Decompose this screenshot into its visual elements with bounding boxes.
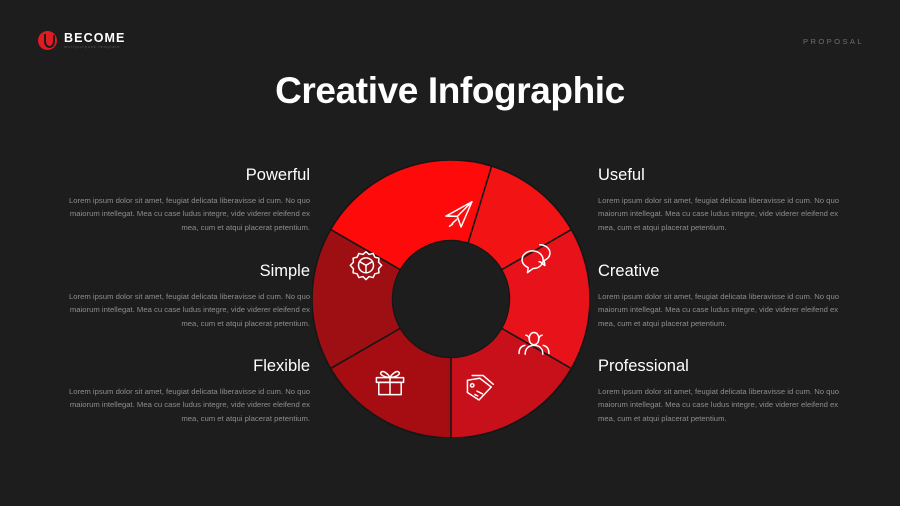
segment-text-creative: Creative Lorem ipsum dolor sit amet, feu… (598, 262, 846, 330)
donut-chart (312, 160, 590, 438)
page-title: Creative Infographic (0, 70, 900, 112)
segment-label-flexible: Flexible (62, 357, 310, 376)
donut-center-hole (393, 241, 509, 357)
segment-label-useful: Useful (598, 166, 846, 185)
segment-text-simple: Simple Lorem ipsum dolor sit amet, feugi… (62, 262, 310, 330)
donut-svg (312, 160, 590, 438)
segment-label-powerful: Powerful (62, 166, 310, 185)
slide-canvas: BECOME multipurpose template PROPOSAL Cr… (0, 0, 900, 506)
segment-body-professional: Lorem ipsum dolor sit amet, feugiat deli… (598, 385, 846, 425)
segment-label-professional: Professional (598, 357, 846, 376)
brand-tagline: multipurpose template (64, 46, 125, 49)
segment-text-useful: Useful Lorem ipsum dolor sit amet, feugi… (598, 166, 846, 234)
segment-body-powerful: Lorem ipsum dolor sit amet, feugiat deli… (62, 194, 310, 234)
segment-text-professional: Professional Lorem ipsum dolor sit amet,… (598, 357, 846, 425)
become-b-logo-icon (38, 31, 57, 50)
segment-label-creative: Creative (598, 262, 846, 281)
segment-body-creative: Lorem ipsum dolor sit amet, feugiat deli… (598, 290, 846, 330)
segment-text-powerful: Powerful Lorem ipsum dolor sit amet, feu… (62, 166, 310, 234)
segment-body-simple: Lorem ipsum dolor sit amet, feugiat deli… (62, 290, 310, 330)
segment-body-flexible: Lorem ipsum dolor sit amet, feugiat deli… (62, 385, 310, 425)
brand-logo[interactable]: BECOME multipurpose template (38, 31, 125, 50)
segment-label-simple: Simple (62, 262, 310, 281)
proposal-label: PROPOSAL (803, 37, 864, 46)
brand-logo-text: BECOME multipurpose template (64, 32, 125, 50)
segment-text-flexible: Flexible Lorem ipsum dolor sit amet, feu… (62, 357, 310, 425)
brand-name: BECOME (64, 32, 125, 45)
segment-body-useful: Lorem ipsum dolor sit amet, feugiat deli… (598, 194, 846, 234)
